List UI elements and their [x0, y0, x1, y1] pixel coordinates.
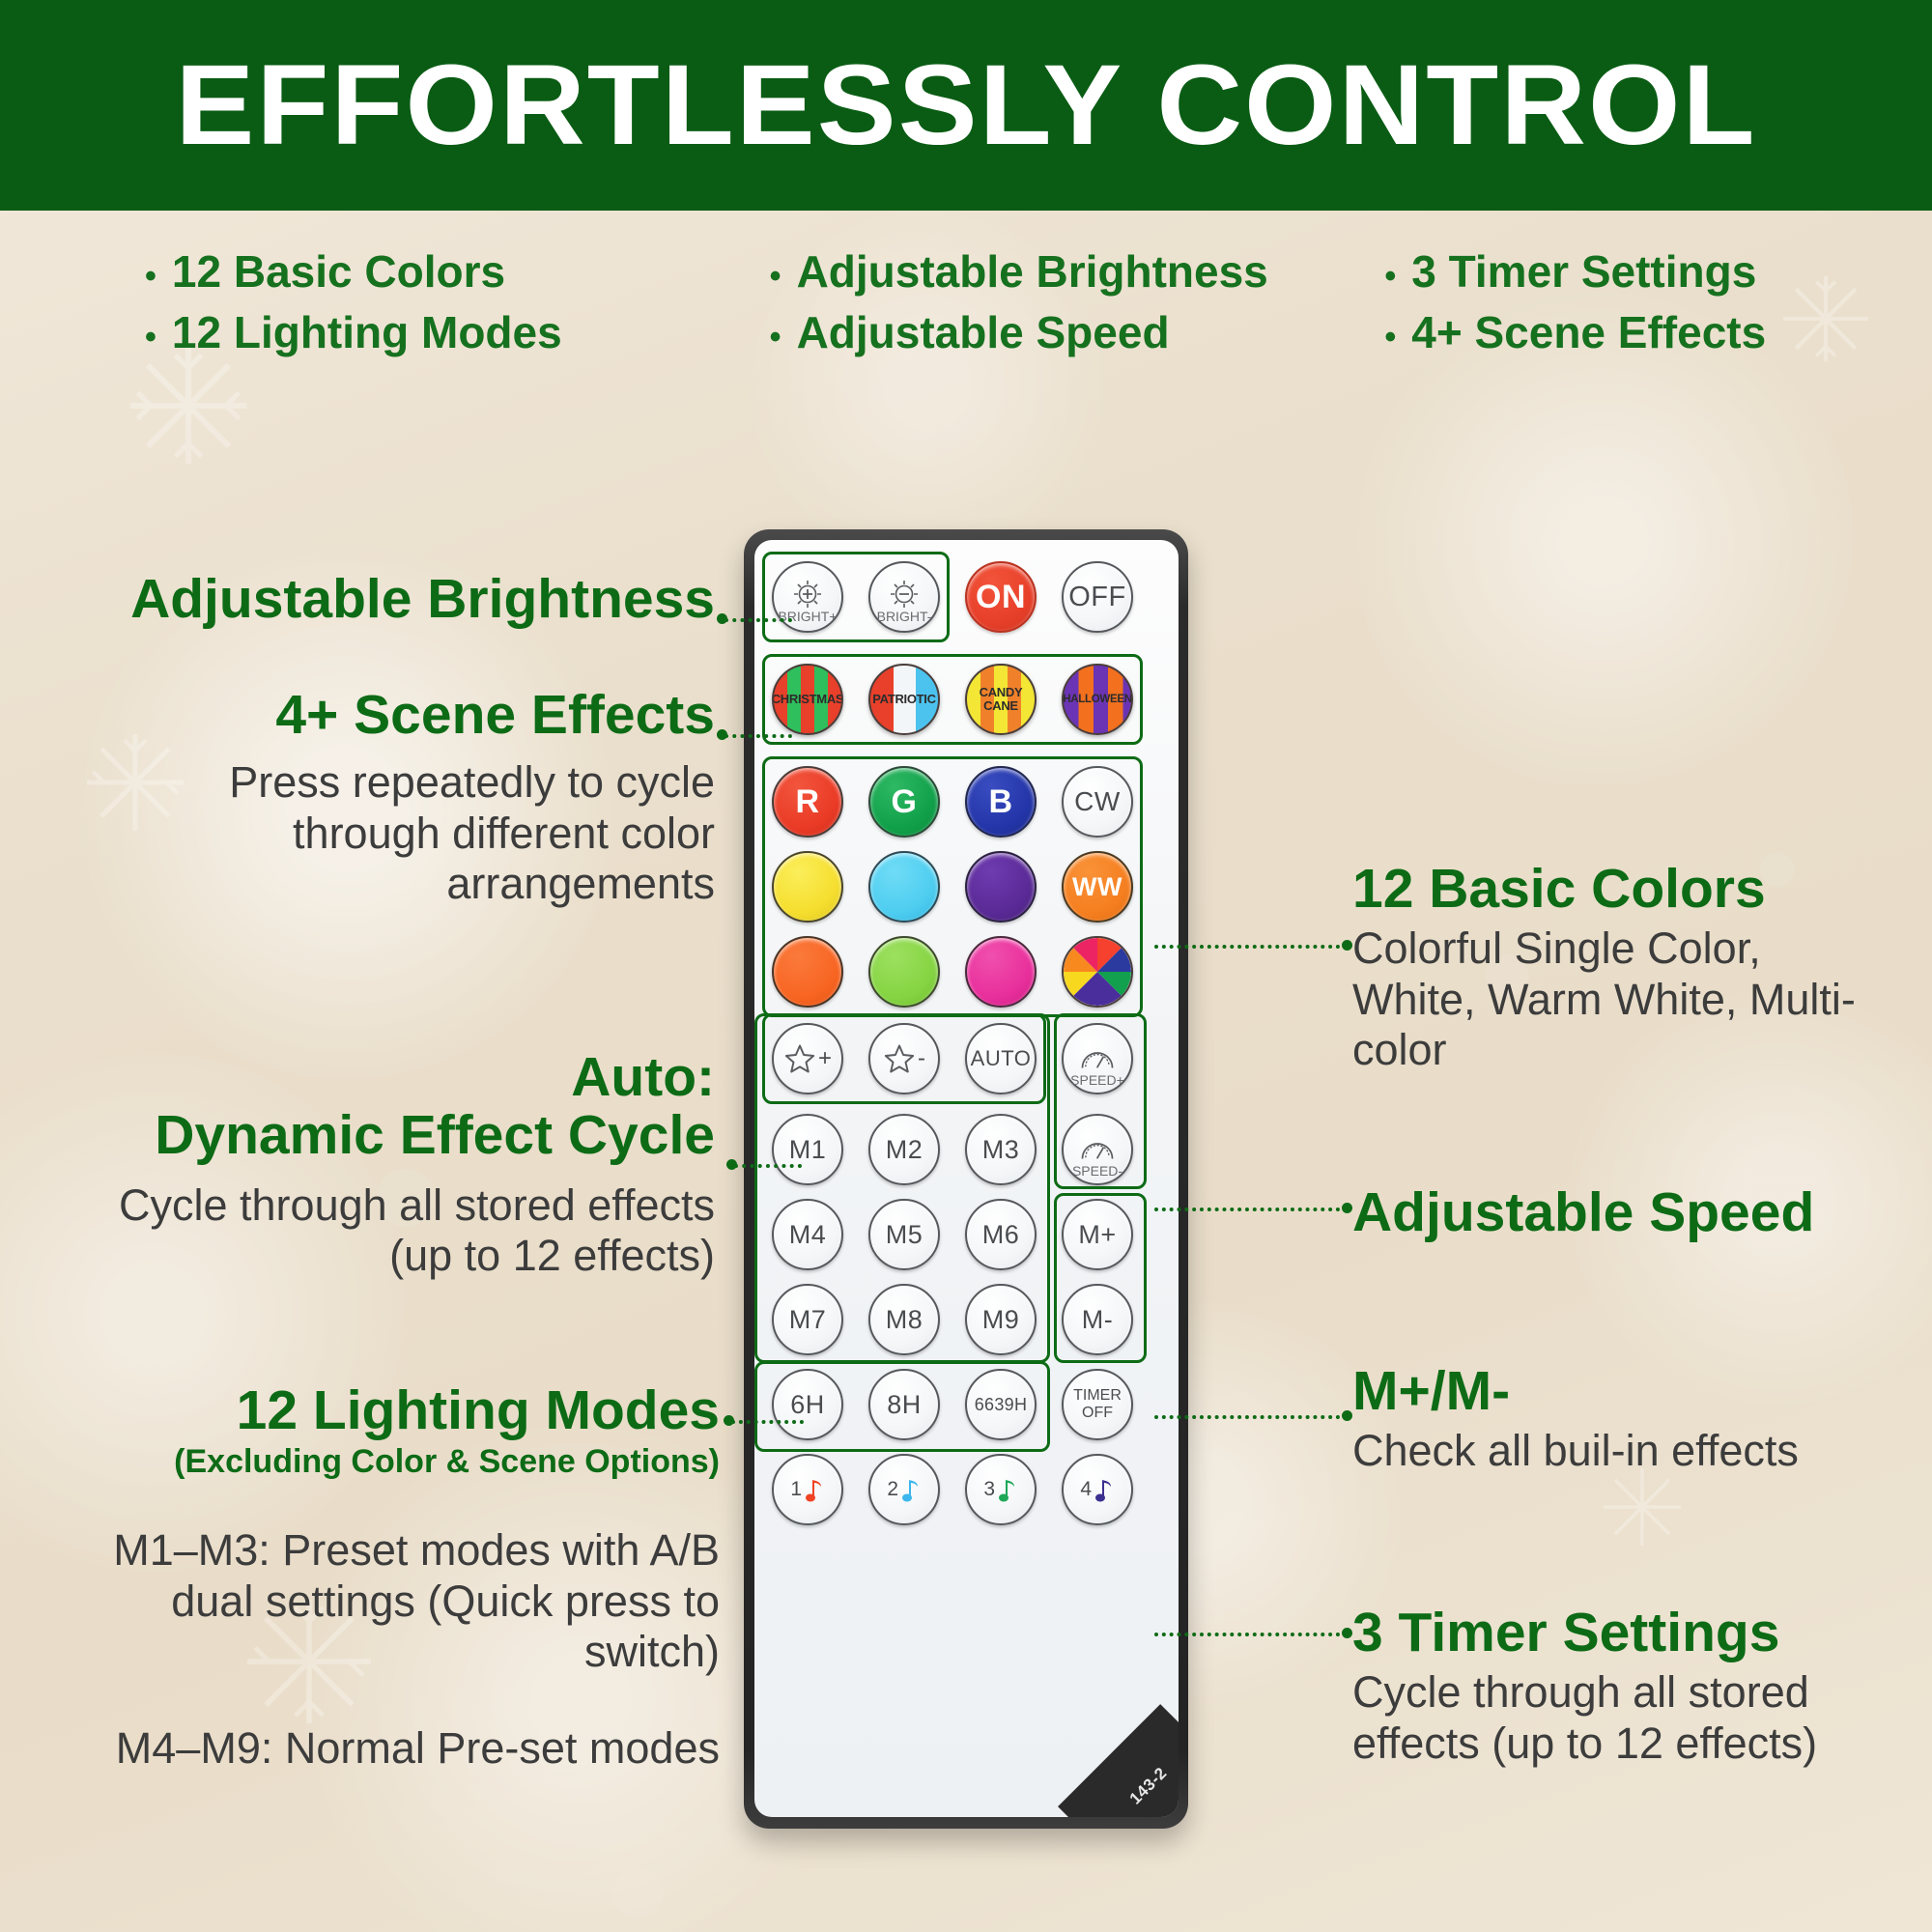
timer-6639h-button[interactable]: 6639H: [965, 1369, 1037, 1440]
remote-row-m123-speedminus: M1 M2 M3 SPEED-: [772, 1114, 1133, 1185]
annotation-adjustable-brightness: Adjustable Brightness: [77, 570, 715, 628]
remote-row-colors-1: R G B CW: [772, 766, 1133, 838]
mode-plus-button[interactable]: M+: [1062, 1199, 1133, 1270]
feature-item: • 12 Lighting Modes: [145, 302, 693, 363]
annotation-headline: Adjustable Brightness: [77, 570, 715, 628]
music-note-icon: [1094, 1475, 1115, 1504]
color-red-button[interactable]: R: [772, 766, 843, 838]
music-2-number: 2: [887, 1478, 898, 1501]
bullet-icon: •: [145, 321, 156, 354]
bright-minus-label: BRIGHT-: [877, 609, 932, 624]
music-mode-2-button[interactable]: 2: [868, 1454, 940, 1525]
music-4-number: 4: [1080, 1478, 1092, 1501]
color-green-button[interactable]: G: [868, 766, 940, 838]
bullet-icon: •: [145, 260, 156, 293]
star-icon: [883, 1042, 916, 1075]
color-yellow-button[interactable]: [772, 851, 843, 923]
feature-item: • Adjustable Brightness: [770, 241, 1318, 302]
leader-line-scene: [724, 734, 792, 738]
power-on-label: ON: [976, 579, 1026, 616]
power-off-label: OFF: [1068, 582, 1126, 613]
mode-m4-label: M4: [789, 1220, 827, 1250]
remote-row-music: 1 2 3: [772, 1454, 1133, 1525]
leader-dot-auto: [726, 1159, 737, 1170]
music-2-glyph: 2: [887, 1475, 921, 1504]
remote-row-auto-speed: + - AUTO: [772, 1023, 1133, 1094]
scene-halloween-label: HALLOWEEN: [1063, 694, 1131, 705]
star-minus-button[interactable]: -: [868, 1023, 940, 1094]
music-1-glyph: 1: [790, 1475, 824, 1504]
leader-dot-mplus: [1342, 1410, 1352, 1421]
timer-8h-label: 8H: [887, 1390, 922, 1420]
leader-line-speed: [1154, 1207, 1348, 1211]
mode-m7-label: M7: [789, 1305, 827, 1335]
mode-m1-button[interactable]: M1: [772, 1114, 843, 1185]
feature-item: • 12 Basic Colors: [145, 241, 693, 302]
color-magenta-button[interactable]: [965, 936, 1037, 1008]
timer-6h-button[interactable]: 6H: [772, 1369, 843, 1440]
annotation-lighting-modes: 12 Lighting Modes (Excluding Color & Sce…: [53, 1381, 720, 1774]
music-1-number: 1: [790, 1478, 802, 1501]
speed-plus-button[interactable]: SPEED+: [1062, 1023, 1133, 1094]
music-mode-3-button[interactable]: 3: [965, 1454, 1037, 1525]
scene-halloween-button[interactable]: HALLOWEEN: [1062, 664, 1133, 735]
power-on-button[interactable]: ON: [965, 561, 1037, 633]
mode-m1-label: M1: [789, 1135, 827, 1165]
color-purple-button[interactable]: [965, 851, 1037, 923]
annotation-auto-dynamic-effect-cycle: Auto: Dynamic Effect Cycle Cycle through…: [58, 1048, 715, 1281]
annotation-body-normal: M4–M9: Normal Pre-set modes: [53, 1723, 720, 1774]
leader-dot-brightness: [717, 613, 727, 624]
feature-item: • 4+ Scene Effects: [1384, 302, 1932, 363]
scene-patriotic-button[interactable]: PATRIOTIC: [868, 664, 940, 735]
color-cool-white-label: CW: [1074, 786, 1121, 817]
leader-dot-speed: [1342, 1203, 1352, 1213]
speed-minus-label: SPEED-: [1072, 1163, 1122, 1179]
annotation-adjustable-speed: Adjustable Speed: [1352, 1183, 1893, 1241]
feature-column-3: • 3 Timer Settings • 4+ Scene Effects: [1317, 241, 1932, 396]
timer-off-label-line1: TIMER: [1073, 1387, 1122, 1405]
timer-8h-button[interactable]: 8H: [868, 1369, 940, 1440]
color-cool-white-button[interactable]: CW: [1062, 766, 1133, 838]
feature-label: 3 Timer Settings: [1411, 241, 1756, 302]
annotation-headline: 4+ Scene Effects: [77, 686, 715, 744]
color-blue-button[interactable]: B: [965, 766, 1037, 838]
gauge-icon: [1079, 1044, 1116, 1073]
color-orange-button[interactable]: [772, 936, 843, 1008]
annotation-body: Press repeatedly to cycle through differ…: [77, 757, 715, 909]
remote-row-m789-mminus: M7 M8 M9 M-: [772, 1284, 1133, 1355]
bright-minus-button[interactable]: BRIGHT-: [868, 561, 940, 633]
feature-column-2: • Adjustable Brightness • Adjustable Spe…: [693, 241, 1318, 396]
page-title: EFFORTLESSLY CONTROL: [175, 40, 1756, 171]
auto-button[interactable]: AUTO: [965, 1023, 1037, 1094]
mode-m8-button[interactable]: M8: [868, 1284, 940, 1355]
scene-patriotic-label: PATRIOTIC: [872, 693, 935, 706]
leader-dot-modes: [724, 1415, 734, 1426]
music-4-glyph: 4: [1080, 1475, 1114, 1504]
remote-row-power: BRIGHT+ BRIGHT- ON O: [772, 561, 1133, 633]
star-plus-glyph: +: [783, 1042, 832, 1075]
leader-line-brightness: [724, 618, 792, 622]
bullet-icon: •: [770, 321, 781, 354]
timer-off-label-line2: OFF: [1082, 1405, 1113, 1422]
leader-line-auto: [734, 1164, 802, 1168]
timer-6639h-label: 6639H: [975, 1395, 1028, 1415]
star-minus-glyph: -: [883, 1042, 925, 1075]
scene-christmas-label: CHRISTMAS: [772, 693, 843, 706]
bullet-icon: •: [770, 260, 781, 293]
scene-christmas-button[interactable]: CHRISTMAS: [772, 664, 843, 735]
annotation-m-plus-minus: M+/M- Check all buil-in effects: [1352, 1362, 1913, 1477]
leader-line-timer: [1154, 1633, 1348, 1636]
annotation-body: Colorful Single Color, White, Warm White…: [1352, 923, 1893, 1075]
annotation-headline: M+/M-: [1352, 1362, 1913, 1420]
star-plus-button[interactable]: +: [772, 1023, 843, 1094]
remote-row-timers: 6H 8H 6639H TIMER OFF: [772, 1369, 1133, 1440]
remote-control-device: BRIGHT+ BRIGHT- ON O: [744, 529, 1188, 1829]
leader-dot-scene: [717, 729, 727, 740]
feature-label: 4+ Scene Effects: [1411, 302, 1766, 363]
bullet-icon: •: [1384, 321, 1396, 354]
annotation-body: Cycle through all stored effects (up to …: [1352, 1667, 1922, 1768]
remote-faceplate: BRIGHT+ BRIGHT- ON O: [754, 540, 1179, 1817]
gauge-icon: [1079, 1135, 1116, 1164]
mode-m2-button[interactable]: M2: [868, 1114, 940, 1185]
mode-m7-button[interactable]: M7: [772, 1284, 843, 1355]
feature-label: 12 Lighting Modes: [172, 302, 562, 363]
music-note-icon: [804, 1475, 825, 1504]
mode-m9-label: M9: [982, 1305, 1020, 1335]
mode-m5-label: M5: [886, 1220, 923, 1250]
mode-m3-label: M3: [982, 1135, 1020, 1165]
color-warm-white-button[interactable]: WW: [1062, 851, 1133, 923]
mode-m5-button[interactable]: M5: [868, 1199, 940, 1270]
color-multicolor-button[interactable]: [1062, 936, 1133, 1008]
color-red-label: R: [795, 783, 819, 821]
mode-minus-label: M-: [1082, 1305, 1113, 1335]
music-3-glyph: 3: [983, 1475, 1017, 1504]
model-tag-corner: [1058, 1704, 1179, 1817]
speed-minus-button[interactable]: SPEED-: [1062, 1114, 1133, 1185]
remote-row-scenes: CHRISTMAS PATRIOTIC CANDY CANE HALLOWEEN: [772, 664, 1133, 735]
star-icon: [783, 1042, 816, 1075]
color-lime-button[interactable]: [868, 936, 940, 1008]
mode-minus-button[interactable]: M-: [1062, 1284, 1133, 1355]
feature-label: Adjustable Brightness: [797, 241, 1268, 302]
auto-label: AUTO: [971, 1046, 1032, 1071]
remote-row-colors-2: WW: [772, 851, 1133, 923]
timer-off-button[interactable]: TIMER OFF: [1062, 1369, 1133, 1440]
music-note-icon: [997, 1475, 1018, 1504]
annotation-headline-line2: Dynamic Effect Cycle: [58, 1106, 715, 1164]
music-note-icon: [900, 1475, 922, 1504]
mode-m6-button[interactable]: M6: [965, 1199, 1037, 1270]
remote-row-colors-3: [772, 936, 1133, 1008]
scene-candy-cane-label: CANDY CANE: [980, 686, 1023, 712]
power-off-button[interactable]: OFF: [1062, 561, 1133, 633]
feature-bullet-list: • 12 Basic Colors • 12 Lighting Modes • …: [0, 241, 1932, 396]
leader-line-mplus: [1154, 1415, 1348, 1419]
remote-row-m456-mplus: M4 M5 M6 M+: [772, 1199, 1133, 1270]
page-header-banner: EFFORTLESSLY CONTROL: [0, 0, 1932, 211]
annotation-headline: Adjustable Speed: [1352, 1183, 1893, 1241]
color-cyan-button[interactable]: [868, 851, 940, 923]
mode-m2-label: M2: [886, 1135, 923, 1165]
mode-m9-button[interactable]: M9: [965, 1284, 1037, 1355]
bullet-icon: •: [1384, 260, 1396, 293]
annotation-timer-settings: 3 Timer Settings Cycle through all store…: [1352, 1604, 1922, 1769]
feature-label: Adjustable Speed: [797, 302, 1170, 363]
leader-line-colors: [1154, 945, 1348, 949]
rainbow-pie-icon: [1064, 938, 1131, 1006]
annotation-body-preset: M1–M3: Preset modes with A/B dual settin…: [53, 1525, 720, 1677]
speed-plus-label: SPEED+: [1070, 1072, 1124, 1088]
music-mode-4-button[interactable]: 4: [1062, 1454, 1133, 1525]
annotation-headline-line1: Auto:: [58, 1048, 715, 1106]
mode-m6-label: M6: [982, 1220, 1020, 1250]
mode-m3-button[interactable]: M3: [965, 1114, 1037, 1185]
leader-line-modes: [731, 1420, 804, 1424]
feature-item: • 3 Timer Settings: [1384, 241, 1932, 302]
leader-dot-timer: [1342, 1628, 1352, 1638]
timer-6h-label: 6H: [790, 1390, 825, 1420]
feature-label: 12 Basic Colors: [172, 241, 505, 302]
annotation-body: Check all buil-in effects: [1352, 1426, 1913, 1476]
mode-m8-label: M8: [886, 1305, 923, 1335]
annotation-basic-colors: 12 Basic Colors Colorful Single Color, W…: [1352, 860, 1893, 1075]
annotation-headline: 12 Lighting Modes: [53, 1381, 720, 1439]
annotation-headline: 3 Timer Settings: [1352, 1604, 1922, 1662]
feature-column-1: • 12 Basic Colors • 12 Lighting Modes: [0, 241, 693, 396]
scene-candy-cane-button[interactable]: CANDY CANE: [965, 664, 1037, 735]
music-mode-1-button[interactable]: 1: [772, 1454, 843, 1525]
color-warm-white-label: WW: [1072, 872, 1122, 902]
music-3-number: 3: [983, 1478, 995, 1501]
leader-dot-colors: [1342, 940, 1352, 951]
annotation-subheadline: (Excluding Color & Scene Options): [53, 1443, 720, 1481]
annotation-scene-effects: 4+ Scene Effects Press repeatedly to cyc…: [77, 686, 715, 909]
color-blue-label: B: [988, 783, 1012, 821]
mode-m4-button[interactable]: M4: [772, 1199, 843, 1270]
annotation-headline: 12 Basic Colors: [1352, 860, 1893, 918]
color-green-label: G: [892, 783, 918, 821]
mode-plus-label: M+: [1078, 1220, 1116, 1250]
annotation-body: Cycle through all stored effects (up to …: [58, 1180, 715, 1281]
feature-item: • Adjustable Speed: [770, 302, 1318, 363]
